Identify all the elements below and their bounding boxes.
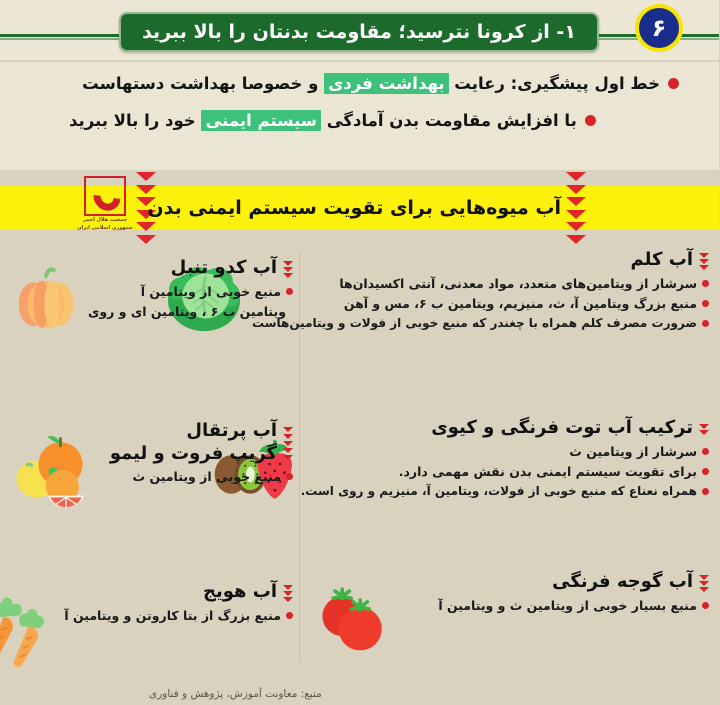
card-bullet-list: منبع خوبی از ویتامین ث	[104, 469, 294, 489]
list-item: سرشار از ویتامین‌های متعدد، مواد معدنی، …	[253, 276, 710, 291]
bullet-dot-icon	[703, 300, 710, 307]
list-item-text: سرشار از ویتامین‌های متعدد، مواد معدنی، …	[340, 276, 698, 291]
list-item: برای تقویت سیستم ایمنی بدن نقش مهمی دارد…	[302, 464, 710, 479]
list-item-text: منبع خوبی از ویتامین ث	[134, 469, 282, 484]
list-item-text: منبع خوبی از ویتامین آ	[142, 284, 282, 299]
juice-cards-grid: آب کلم سرشار از ویتامین‌های متعدد، مواد …	[0, 248, 720, 678]
chevron-down-icon	[700, 587, 710, 592]
chevron-down-icon	[284, 597, 294, 602]
chevron-down-icon	[137, 235, 157, 244]
list-item: همراه نعناع که منبع خوبی از فولات، ویتام…	[302, 484, 710, 498]
intro-bullet-2-text: با افزایش مقاومت بدن آمادگی سیستم ایمنی …	[70, 111, 578, 130]
chevron-down-icon	[137, 172, 157, 181]
red-crescent-logo: جمعیت هلال احمر جمهوری اسلامی ایران	[80, 176, 132, 240]
citrus-icon	[8, 420, 104, 516]
card-pumpkin-juice: آب کدو تنبل منبع خوبی از ویتامین آ ویتام…	[8, 256, 298, 340]
chevron-down-icon	[284, 441, 294, 446]
card-citrus-juice: آب پرتقال گریپ فروت و لیمو منبع خوبی از …	[8, 420, 298, 516]
card-bullet-list: منبع بسیار خوبی از ویتامین ث و ویتامین آ	[402, 598, 710, 618]
card-carrot-juice: آب هویج منبع بزرگ از بتا کاروتن و ویتامی…	[8, 580, 298, 676]
card-bullet-list: منبع خوبی از ویتامین آ ویتامین ب ۶ ، ویت…	[89, 284, 294, 324]
bullet-dot-icon	[287, 612, 294, 619]
list-item: منبع بزرگ از بتا کاروتن و ویتامین آ	[65, 608, 294, 623]
chevron-down-icon	[284, 434, 294, 439]
card-title: آب کدو تنبل	[172, 256, 278, 280]
card-head: آب کلم	[632, 248, 710, 272]
card-head: آب گوجه فرنگی	[553, 570, 710, 594]
card-body: آب پرتقال گریپ فروت و لیمو منبع خوبی از …	[104, 420, 298, 489]
chevron-down-icon	[700, 253, 710, 258]
intro-bullet-2-highlight: سیستم ایمنی	[202, 110, 322, 131]
card-bullet-list: منبع بزرگ از بتا کاروتن و ویتامین آ	[65, 608, 294, 628]
card-title-line-2: گریپ فروت و لیمو	[111, 443, 278, 466]
list-item: منبع بسیار خوبی از ویتامین ث و ویتامین آ	[402, 598, 710, 613]
card-title: آب گوجه فرنگی	[553, 570, 694, 594]
intro-bullet-1-highlight: بهداشت فردی	[325, 73, 449, 94]
pumpkin-icon	[5, 256, 89, 340]
card-head: ترکیب آب توت فرنگی و کیوی	[432, 416, 710, 440]
bullet-dot-icon	[703, 468, 710, 475]
bullet-dot-icon	[287, 473, 294, 480]
red-crescent-icon	[85, 176, 127, 216]
tomato-icon	[306, 570, 402, 666]
intro-bullet-2-post: خود را بالا ببرید	[70, 111, 202, 130]
chevron-down-icon	[284, 448, 294, 453]
footer: منبع: معاونت آموزش، پژوهش و فناوری	[0, 682, 720, 701]
header-bar: ۱- از کرونا نترسید؛ مقاومت بدنتان را بال…	[0, 0, 720, 60]
chevron-down-icon	[284, 273, 294, 278]
card-body: آب کلم سرشار از ویتامین‌های متعدد، مواد …	[253, 248, 714, 335]
page-number-badge: ۶	[636, 4, 684, 52]
list-item: ویتامین ب ۶ ، ویتامین ای و روی	[89, 304, 294, 319]
card-chevrons	[284, 259, 294, 278]
chevron-down-icon	[284, 267, 294, 272]
list-item: منبع خوبی از ویتامین آ	[89, 284, 294, 299]
carrot-icon	[0, 580, 65, 676]
card-body: آب کدو تنبل منبع خوبی از ویتامین آ ویتام…	[89, 256, 298, 324]
card-title: آب هویج	[204, 580, 278, 604]
list-item: سرشار از ویتامین ث	[302, 444, 710, 459]
section-banner-title: آب میوه‌هایی برای تقویت سیستم ایمنی بدن	[148, 197, 562, 219]
intro-bullet-2-pre: با افزایش مقاومت بدن آمادگی	[322, 111, 578, 130]
page-title: ۱- از کرونا نترسید؛ مقاومت بدنتان را بال…	[143, 21, 577, 43]
page-number-text: ۶	[653, 16, 668, 40]
card-head: آب پرتقال گریپ فروت و لیمو	[111, 420, 294, 465]
list-item: ضرورت مصرف کلم همراه با چغندر که منبع خو…	[253, 316, 710, 330]
footer-source-text: منبع: معاونت آموزش، پژوهش و فناوری	[150, 688, 323, 700]
card-body: آب هویج منبع بزرگ از بتا کاروتن و ویتامی…	[65, 580, 298, 628]
bullet-dot-icon	[669, 78, 680, 89]
bullet-dot-icon	[586, 115, 597, 126]
card-bullet-list: سرشار از ویتامین‌های متعدد، مواد معدنی، …	[253, 276, 710, 335]
list-item-text: همراه نعناع که منبع خوبی از فولات، ویتام…	[302, 484, 698, 498]
chevron-down-icon	[700, 430, 710, 435]
chevron-down-icon	[284, 427, 294, 432]
intro-bullet-1: خط اول پیشگیری: رعایت بهداشت فردی و خصوص…	[40, 74, 680, 93]
chevron-down-icon	[284, 591, 294, 596]
intro-bullet-1-text: خط اول پیشگیری: رعایت بهداشت فردی و خصوص…	[83, 74, 661, 93]
list-item-text: منبع بسیار خوبی از ویتامین ث و ویتامین آ	[439, 598, 698, 613]
chevron-down-icon	[567, 235, 587, 244]
chevron-down-icon	[700, 259, 710, 264]
list-item-text: منبع بزرگ از بتا کاروتن و ویتامین آ	[65, 608, 282, 623]
bullet-dot-icon	[703, 602, 710, 609]
list-item: منبع بزرگ ویتامین آ، ث، منیزیم، ویتامین …	[253, 296, 710, 311]
chevron-down-icon	[700, 424, 710, 429]
card-title: آب کلم	[632, 248, 694, 272]
bullet-dot-icon	[703, 488, 710, 495]
list-item-text: سرشار از ویتامین ث	[570, 444, 698, 459]
bullet-dot-icon	[703, 280, 710, 287]
card-chevrons	[700, 251, 710, 270]
card-head: آب هویج	[204, 580, 294, 604]
card-body: آب گوجه فرنگی منبع بسیار خوبی از ویتامین…	[402, 570, 714, 618]
bullet-dot-icon	[703, 320, 710, 327]
card-strawberry-kiwi-juice: ترکیب آب توت فرنگی و کیوی سرشار از ویتام…	[306, 416, 714, 512]
list-item-text: برای تقویت سیستم ایمنی بدن نقش مهمی دارد…	[400, 464, 698, 479]
chevron-down-icon	[284, 585, 294, 590]
chevron-down-icon	[700, 265, 710, 270]
card-title-line-1: آب پرتقال	[111, 420, 278, 443]
chevron-down-icon	[700, 575, 710, 580]
card-chevrons	[284, 583, 294, 602]
red-crescent-caption-1: جمعیت هلال احمر	[84, 217, 128, 224]
card-title: ترکیب آب توت فرنگی و کیوی	[432, 416, 694, 440]
list-item-text: منبع بزرگ ویتامین آ، ث، منیزیم، ویتامین …	[345, 296, 698, 311]
chevron-down-icon	[284, 261, 294, 266]
list-item-text: ضرورت مصرف کلم همراه با چغندر که منبع خو…	[253, 316, 698, 330]
card-cabbage-juice: آب کلم سرشار از ویتامین‌های متعدد، مواد …	[306, 248, 714, 344]
list-item: منبع خوبی از ویتامین ث	[104, 469, 294, 484]
card-tomato-juice: آب گوجه فرنگی منبع بسیار خوبی از ویتامین…	[306, 570, 714, 666]
bullet-dot-icon	[287, 288, 294, 295]
card-head: آب کدو تنبل	[172, 256, 294, 280]
card-chevrons	[284, 425, 294, 460]
bullet-dot-icon	[703, 448, 710, 455]
crescent-shape-icon	[89, 178, 127, 216]
red-crescent-caption-2: جمهوری اسلامی ایران	[78, 225, 134, 232]
intro-bullet-1-pre: خط اول پیشگیری: رعایت	[450, 74, 661, 93]
chevron-down-icon	[284, 455, 294, 460]
infographic-page: ۱- از کرونا نترسید؛ مقاومت بدنتان را بال…	[0, 0, 720, 705]
card-chevrons	[700, 573, 710, 592]
header-title-pill: ۱- از کرونا نترسید؛ مقاومت بدنتان را بال…	[120, 12, 600, 52]
list-item-text: ویتامین ب ۶ ، ویتامین ای و روی	[89, 304, 287, 319]
card-body: ترکیب آب توت فرنگی و کیوی سرشار از ویتام…	[302, 416, 714, 503]
bullet-dot-spacer	[287, 308, 294, 315]
chevron-down-icon	[567, 172, 587, 181]
card-chevrons	[700, 422, 710, 435]
card-bullet-list: سرشار از ویتامین ث برای تقویت سیستم ایمن…	[302, 444, 710, 503]
card-title-group: آب پرتقال گریپ فروت و لیمو	[111, 420, 278, 465]
intro-bullet-1-post: و خصوصا بهداشت دستهاست	[83, 74, 325, 93]
intro-bullet-2: با افزایش مقاومت بدن آمادگی سیستم ایمنی …	[40, 111, 680, 130]
chevron-down-icon	[700, 581, 710, 586]
intro-bullets: خط اول پیشگیری: رعایت بهداشت فردی و خصوص…	[0, 62, 720, 170]
